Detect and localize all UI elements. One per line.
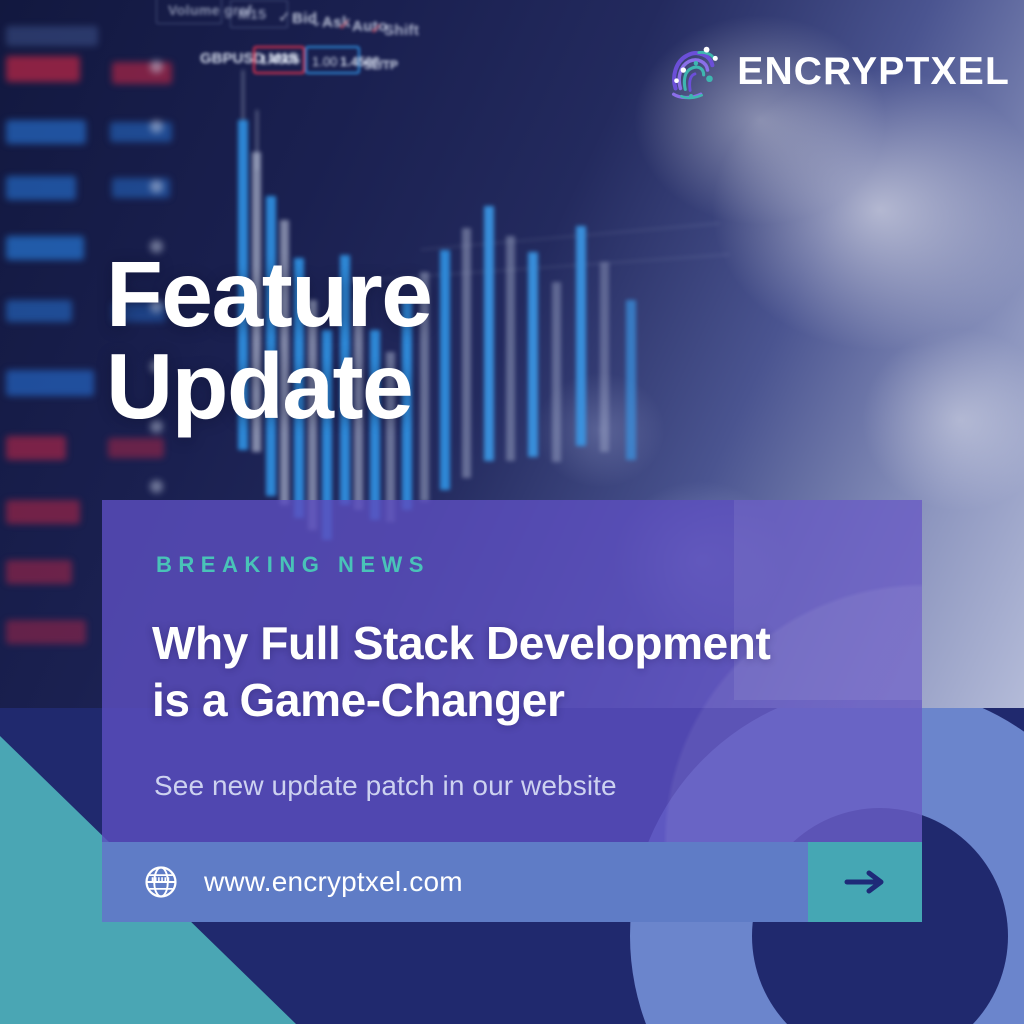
url-bar[interactable]: www.encryptxel.com — [102, 842, 922, 922]
card-headline: Why Full Stack Development is a Game-Cha… — [152, 615, 770, 729]
website-url[interactable]: www.encryptxel.com — [204, 866, 463, 898]
hero-title: Feature Update — [106, 248, 431, 432]
brand-name: ENCRYPTXEL — [737, 52, 1010, 91]
cta-arrow-button[interactable] — [808, 842, 922, 922]
card-subline: See new update patch in our website — [154, 770, 617, 802]
card-headline-line2: is a Game-Changer — [152, 672, 770, 729]
content-card: BREAKING NEWS Why Full Stack Development… — [102, 500, 922, 842]
background-sltp-label: SL/TP — [364, 58, 398, 72]
background-lot-size: 1.00 — [312, 54, 337, 69]
brand-logo[interactable]: ENCRYPTXEL — [662, 40, 1010, 102]
social-media-poster: Volume graf M15 ✓ Bid ⌄ Ask ✓ Auto ✓ Shi… — [0, 0, 1024, 1024]
hero-title-line2: Update — [106, 340, 431, 432]
background-order-ticket: GBPUSD M15 1.4505 1.00 1.4508 SL/TP — [0, 0, 560, 130]
card-headline-line1: Why Full Stack Development — [152, 617, 770, 669]
background-bid-price: 1.4505 — [260, 52, 300, 67]
fingerprint-swirl-icon — [662, 40, 724, 102]
eyebrow-breaking-news: BREAKING NEWS — [156, 552, 430, 578]
globe-icon — [144, 865, 178, 899]
hero-title-line1: Feature — [106, 242, 431, 346]
arrow-right-icon — [841, 867, 889, 897]
